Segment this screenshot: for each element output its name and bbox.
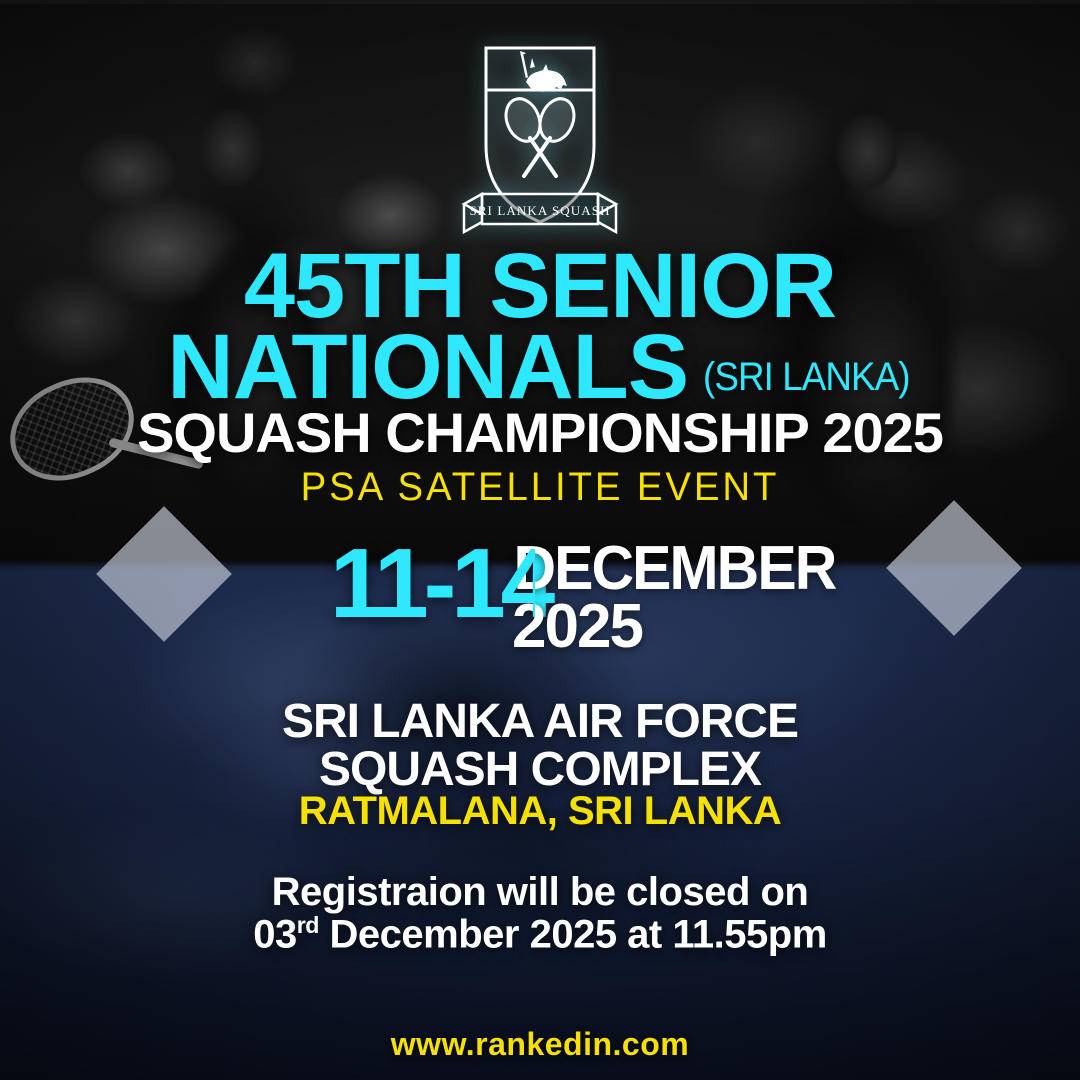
date-month: DECEMBER [513, 538, 835, 600]
event-date-block: 11-14 DECEMBER 2025 11-14 [0, 534, 1080, 654]
venue-line-1: SRI LANKA AIR FORCE [0, 694, 1080, 749]
registration-day-ordinal: rd [297, 912, 319, 938]
registration-notice-line-2: 03rd December 2025 at 11.55pm [0, 912, 1080, 957]
registration-notice-line-1: Registraion will be closed on [0, 870, 1080, 915]
registration-day: 03 [253, 912, 297, 956]
championship-subtitle: SQUASH CHAMPIONSHIP 2025 [0, 400, 1080, 465]
footer-url[interactable]: www.rankedin.com [0, 1026, 1080, 1063]
poster-title: 45TH SENIOR NATIONALS(SRI LANKA) [0, 246, 1080, 408]
venue-city: RATMALANA, SRI LANKA [0, 789, 1080, 834]
registration-date-rest: December 2025 at 11.55pm [319, 912, 827, 956]
title-country: (SRI LANKA) [703, 360, 910, 395]
event-type-label: PSA SATELLITE EVENT [22, 465, 1059, 510]
event-poster: SRI LANKA SQUASH 45TH SENIOR NATIONALS(S… [0, 0, 1080, 1080]
date-days-overlay: 11-14 [330, 534, 550, 632]
